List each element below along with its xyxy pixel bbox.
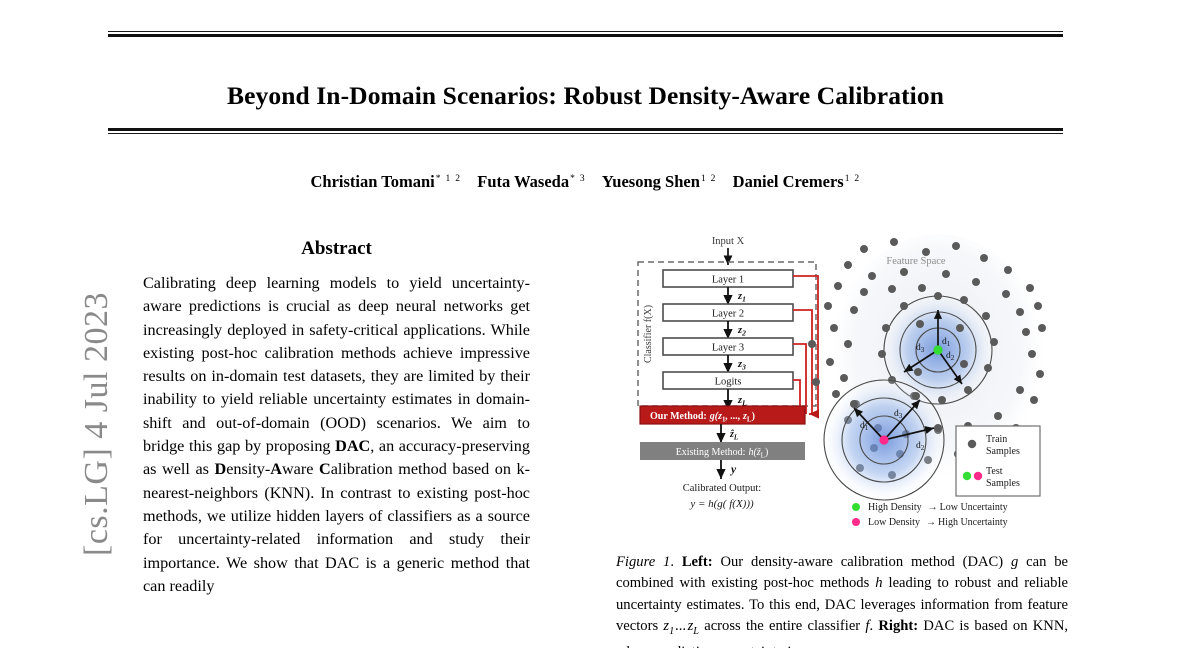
left-diagram: Input X Classifier f(X) Layer 1 z1 Layer… <box>638 236 818 510</box>
density-legend-row-2: Low Density→High Uncertainty <box>868 517 1008 528</box>
calibrated-output-label: Calibrated Output: <box>683 483 762 494</box>
legend-train-dot <box>968 440 976 448</box>
feature-space-label: Feature Space <box>886 256 946 267</box>
our-method-output: ẑL <box>729 429 738 442</box>
figure-caption: Figure 1. Left: Our density-aware calibr… <box>616 552 1068 648</box>
legend-test-label-line2: Samples <box>986 478 1020 489</box>
layer-label-2: Layer 2 <box>712 309 744 320</box>
author-affiliation: * 3 <box>570 174 586 184</box>
author-name: Christian Tomani* 1 2 <box>311 172 462 191</box>
low-density-cluster: d1 d2 d3 <box>822 378 946 502</box>
layer-output-3: z3 <box>737 359 746 372</box>
legend-test-pink-dot <box>974 472 982 480</box>
density-legend-green-dot <box>852 503 860 511</box>
author-list: Christian Tomani* 1 2Futa Waseda* 3Yueso… <box>108 172 1063 192</box>
layer-output-1: z1 <box>737 291 746 304</box>
arxiv-stamp: [cs.LG] 4 Jul 2023 <box>78 259 116 589</box>
density-legend-row-1: High Density→Low Uncertainty <box>868 502 1008 513</box>
author-affiliation: 1 2 <box>845 174 861 184</box>
legend-test-label-line1: Test <box>986 466 1003 477</box>
legend-train-label-line2: Samples <box>986 446 1020 457</box>
legend-train-label-line1: Train <box>986 434 1007 445</box>
test-sample-green-dot <box>933 345 942 354</box>
logits-label: Logits <box>715 377 742 388</box>
author-name: Futa Waseda* 3 <box>477 172 586 191</box>
input-label: Input X <box>712 236 745 247</box>
classifier-label: Classifier f(X) <box>643 305 654 363</box>
calibrated-output-formula: y = h(g( f(X))) <box>689 498 754 510</box>
test-sample-pink-dot <box>879 435 888 444</box>
density-legend-pink-dot <box>852 518 860 526</box>
existing-method-label: Existing Method:h(ẑL) <box>676 447 769 460</box>
sample-legend-box: Train Samples Test Samples <box>956 426 1040 496</box>
existing-method-output: y <box>729 464 737 476</box>
author-name: Daniel Cremers1 2 <box>733 172 861 191</box>
paper-page: [cs.LG] 4 Jul 2023 Beyond In-Domain Scen… <box>0 0 1200 648</box>
our-method-label: Our Method:g(z1, ..., zL) <box>650 411 755 424</box>
density-legend: High Density→Low Uncertainty Low Density… <box>852 502 1008 528</box>
author-name: Yuesong Shen1 2 <box>602 172 717 191</box>
layer-label-1: Layer 1 <box>712 275 744 286</box>
abstract-text: Calibrating deep learning models to yiel… <box>143 272 530 598</box>
figure-1: Input X Classifier f(X) Layer 1 z1 Layer… <box>616 232 1068 532</box>
abstract-heading: Abstract <box>143 238 530 260</box>
author-affiliation: * 1 2 <box>436 174 462 184</box>
page-title: Beyond In-Domain Scenarios: Robust Densi… <box>108 81 1063 111</box>
title-rule-top <box>108 31 1063 37</box>
author-affiliation: 1 2 <box>701 174 717 184</box>
title-rule-bottom <box>108 128 1063 134</box>
figure-1-graphic: Input X Classifier f(X) Layer 1 z1 Layer… <box>616 232 1068 532</box>
right-diagram: Feature Space <box>808 234 1046 528</box>
layer-output-2: z2 <box>737 325 746 338</box>
layer-label-3: Layer 3 <box>712 343 744 354</box>
legend-test-green-dot <box>963 472 971 480</box>
